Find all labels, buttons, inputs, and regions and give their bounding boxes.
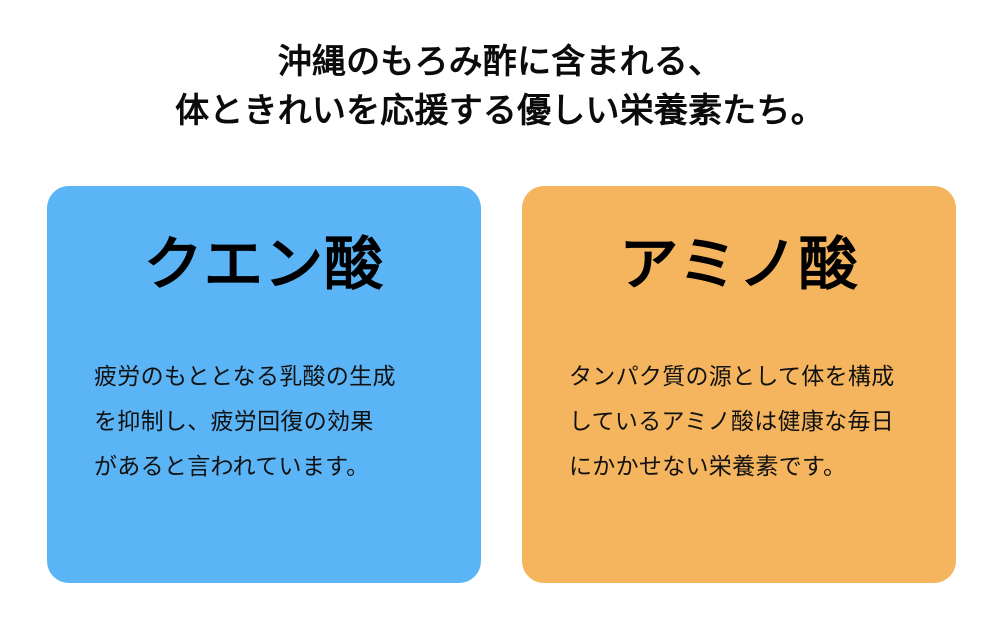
- nutrient-card-title: アミノ酸: [522, 234, 956, 296]
- page-title-line-2: 体ときれいを応援する優しい栄養素たち。: [0, 87, 1000, 136]
- nutrient-card-body: 疲労のもととなる乳酸の生成 を抑制し、疲労回復の効果 があると言われています。: [94, 354, 444, 489]
- infographic-page: 沖縄のもろみ酢に含まれる、 体ときれいを応援する優しい栄養素たち。 クエン酸 疲…: [0, 0, 1000, 621]
- page-title: 沖縄のもろみ酢に含まれる、 体ときれいを応援する優しい栄養素たち。: [0, 38, 1000, 136]
- nutrient-card-body-line: にかかせない栄養素です。: [569, 444, 919, 489]
- nutrient-card-body-line: 疲労のもととなる乳酸の生成: [94, 354, 444, 399]
- nutrient-card-body-line: しているアミノ酸は健康な毎日: [569, 399, 919, 444]
- nutrient-card-body-line: タンパク質の源として体を構成: [569, 354, 919, 399]
- nutrient-card-amino-acid: アミノ酸 タンパク質の源として体を構成 しているアミノ酸は健康な毎日 にかかせな…: [522, 186, 956, 583]
- nutrient-card-body-line: があると言われています。: [94, 444, 444, 489]
- nutrient-card-list: クエン酸 疲労のもととなる乳酸の生成 を抑制し、疲労回復の効果 があると言われて…: [47, 186, 956, 583]
- page-title-line-1: 沖縄のもろみ酢に含まれる、: [0, 38, 1000, 87]
- nutrient-card-citric-acid: クエン酸 疲労のもととなる乳酸の生成 を抑制し、疲労回復の効果 があると言われて…: [47, 186, 481, 583]
- nutrient-card-body-line: を抑制し、疲労回復の効果: [94, 399, 444, 444]
- nutrient-card-body: タンパク質の源として体を構成 しているアミノ酸は健康な毎日 にかかせない栄養素で…: [569, 354, 919, 489]
- nutrient-card-title: クエン酸: [47, 234, 481, 296]
